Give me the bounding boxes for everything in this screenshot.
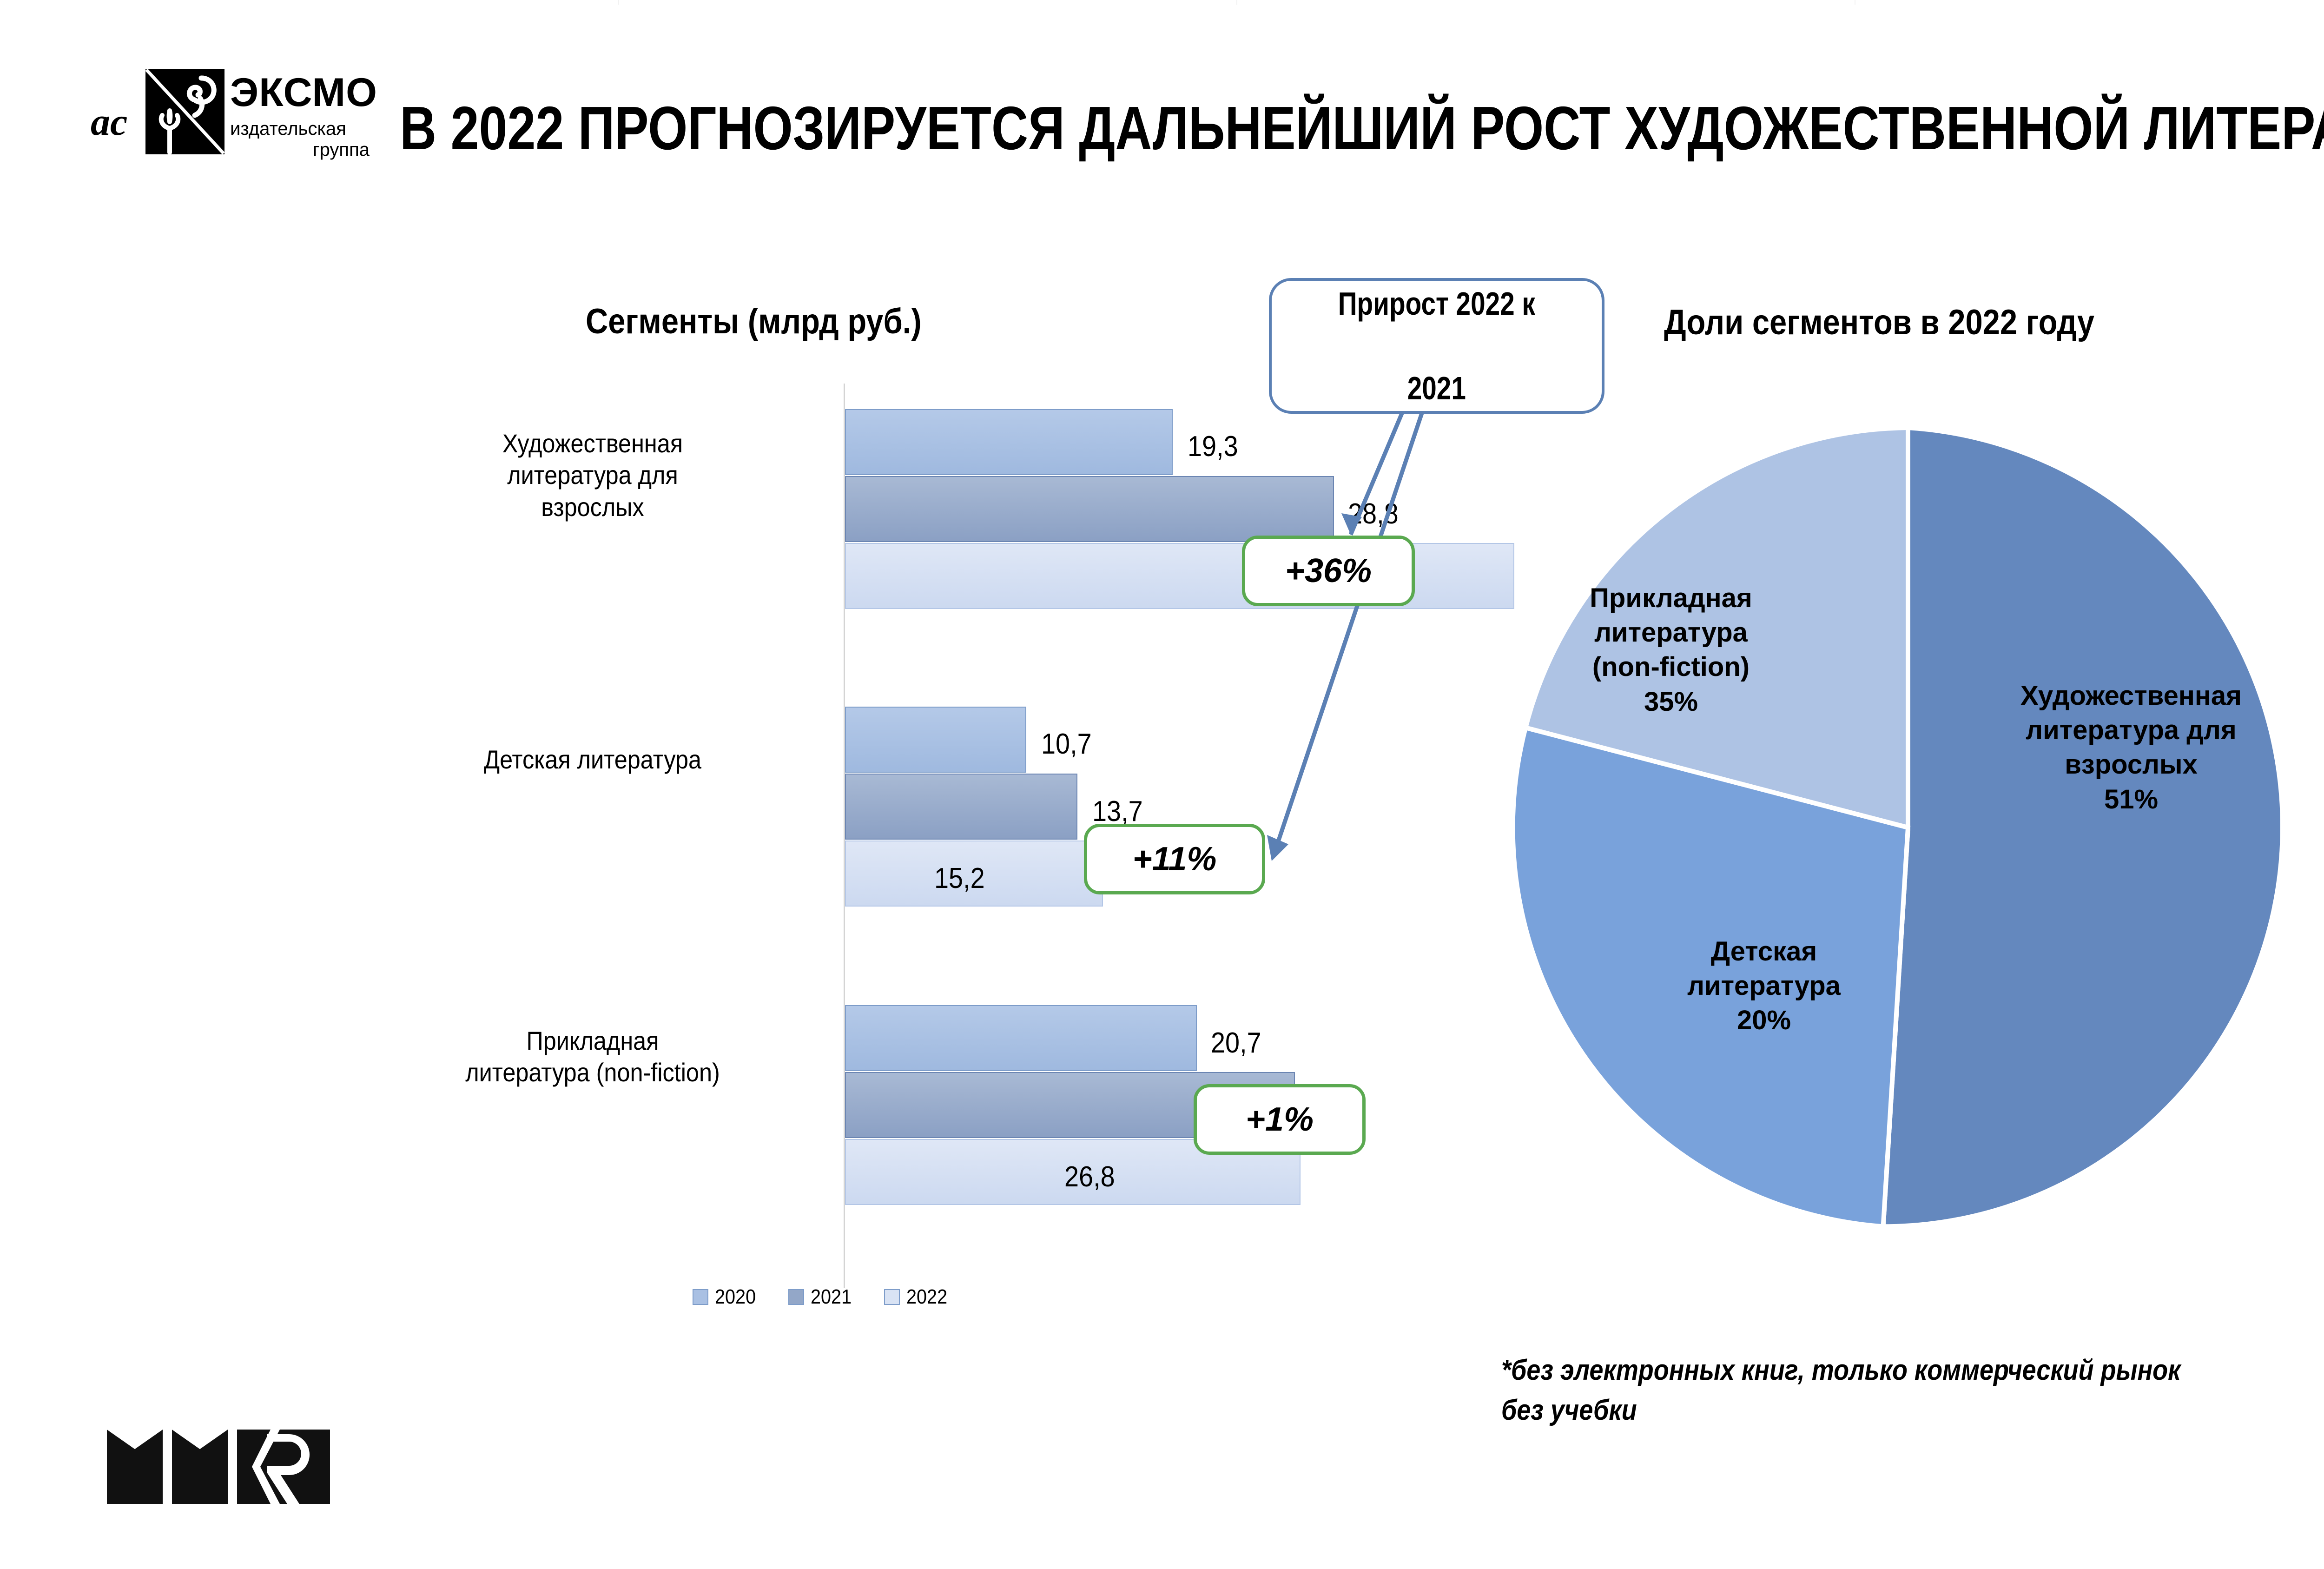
pie-chart-title: Доли сегментов в 2022 году — [1664, 302, 2094, 343]
footnote-line1: *без электронных книг, только коммерческ… — [1501, 1351, 2324, 1390]
mmkya-logo-icon — [107, 1430, 330, 1504]
bar-category-label-2: Прикладная литература (non-fiction) — [383, 1025, 802, 1089]
legend-swatch-2021 — [788, 1289, 804, 1305]
growth-badge-2: +1% — [1194, 1084, 1366, 1155]
bar-value-1-2022: 15,2 — [934, 862, 985, 895]
pie-label-children: Детская литература 20% — [1643, 934, 1885, 1038]
growth-callout-line2: 2021 — [1338, 367, 1535, 410]
bar-value-2-2022: 26,8 — [1064, 1160, 1115, 1193]
pie-label-nonfiction: Прикладная литература (non-fiction) 35% — [1513, 581, 1829, 719]
bar-chart-title: Сегменты (млрд руб.) — [586, 301, 922, 342]
bar-1-2021 — [845, 774, 1077, 840]
legend-label-2022: 2022 — [906, 1285, 947, 1309]
eksmo-subtitle-line2: группа — [230, 139, 370, 160]
legend-label-2020: 2020 — [715, 1285, 756, 1309]
footnote: *без электронных книг, только коммерческ… — [1501, 1351, 2324, 1430]
growth-callout-box: Прирост 2022 к 2021 — [1269, 278, 1604, 414]
bar-2-2020 — [845, 1005, 1197, 1071]
eksmo-logo: ас ЭКСМО издательская группа — [91, 65, 351, 158]
bar-chart: Сегменты (млрд руб.) Художественная лите… — [325, 279, 1348, 1325]
eksmo-subtitle-line1: издательская — [230, 119, 346, 139]
bar-chart-legend: 2020 2021 2022 — [693, 1285, 952, 1309]
eksmo-wordmark: ЭКСМО — [230, 70, 377, 116]
legend-item-2020[interactable]: 2020 — [693, 1285, 760, 1309]
bar-value-1-2021: 13,7 — [1092, 795, 1143, 828]
pie-label-fiction: Художественная литература для взрослых 5… — [1968, 679, 2294, 817]
legend-item-2021[interactable]: 2021 — [788, 1285, 856, 1309]
page-title: В 2022 ПРОГНОЗИРУЕТСЯ ДАЛЬНЕЙШИЙ РОСТ ХУ… — [400, 93, 2290, 163]
legend-swatch-2020 — [693, 1289, 708, 1305]
bar-category-label-0: Художественная литература для взрослых — [383, 428, 802, 523]
growth-callout-line1: Прирост 2022 к — [1338, 283, 1535, 325]
pie-slice-fiction — [1883, 428, 2283, 1226]
bar-category-label-1: Детская литература — [383, 744, 802, 775]
bar-value-0-2021: 28,8 — [1348, 497, 1399, 530]
growth-badge-0: +36% — [1242, 536, 1415, 606]
growth-badge-1: +11% — [1084, 824, 1265, 894]
bar-0-2020 — [845, 409, 1173, 475]
legend-item-2022[interactable]: 2022 — [884, 1285, 952, 1309]
bar-value-2-2020: 20,7 — [1211, 1026, 1261, 1059]
svg-text:ас: ас — [91, 100, 127, 144]
legend-swatch-2022 — [884, 1289, 900, 1305]
bar-value-1-2020: 10,7 — [1041, 728, 1092, 761]
pie-chart: Художественная литература для взрослых 5… — [1494, 414, 2322, 1241]
bar-value-0-2020: 19,3 — [1188, 430, 1238, 463]
bar-1-2020 — [845, 707, 1026, 773]
legend-label-2021: 2021 — [811, 1285, 852, 1309]
bar-0-2021 — [845, 476, 1334, 542]
footnote-line2: без учебки — [1501, 1390, 2324, 1430]
top-separator-strip — [0, 0, 2324, 5]
